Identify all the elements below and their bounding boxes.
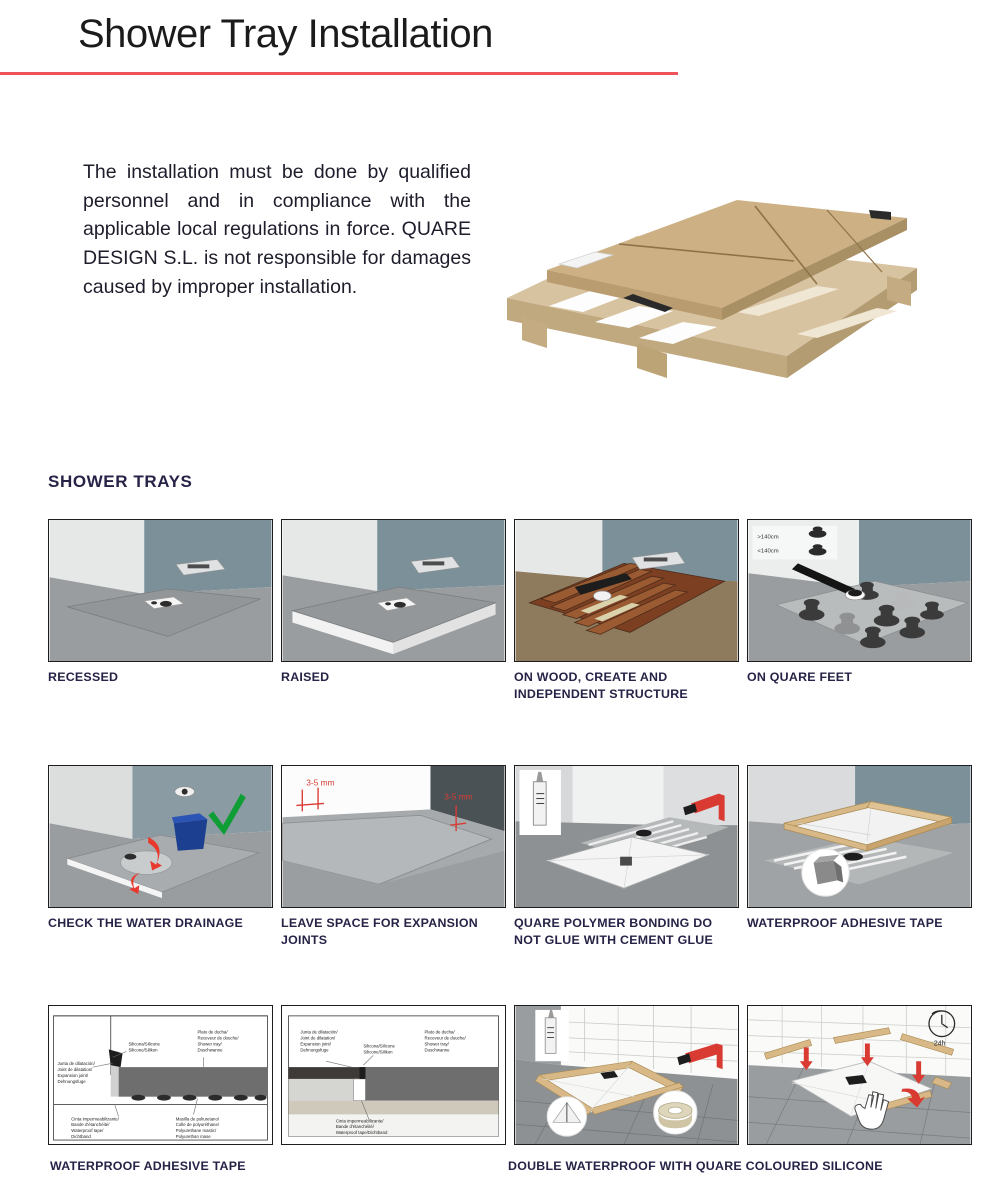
label-shower-tray-line4: Duschwanne bbox=[197, 1047, 223, 1052]
label-shower-tray-line2: Receveur de douche/ bbox=[197, 1036, 239, 1041]
card-water-drainage: CHECK THE WATER DRAINAGE bbox=[48, 765, 277, 948]
scene-adhesive-tape bbox=[748, 766, 971, 907]
label2-waterproof-tape-line3: Waterproof tape/Dichtband bbox=[336, 1130, 388, 1135]
label-waterproof-tape-line2: Bande d'étanchéité/ bbox=[71, 1122, 110, 1127]
caption-double-waterproof-silicone: DOUBLE WATERPROOF WITH QUARE COLOURED SI… bbox=[508, 1159, 883, 1173]
label-shower-tray-line1: Plato de ducha/ bbox=[197, 1030, 228, 1035]
caption-on-wood: ON WOOD, CREATE AND INDEPENDENT STRUCTUR… bbox=[514, 669, 734, 702]
caption-recessed: RECESSED bbox=[48, 669, 268, 686]
feet-legend-small-text: <140cm bbox=[757, 549, 778, 555]
intro-paragraph: The installation must be done by qualifi… bbox=[83, 158, 471, 301]
label-expansion-joint-line2: Joint de dilatation/ bbox=[57, 1067, 93, 1072]
label-polyurethane-line4: Polyurethan mase bbox=[176, 1134, 211, 1139]
caption-raised: RAISED bbox=[281, 669, 501, 686]
label-waterproof-tape-line1: Cinta impermeabilizante/ bbox=[71, 1116, 119, 1121]
card-expansion-joints: 3-5 mm 3-5 mm LEAVE SPACE FOR EXPANSION … bbox=[281, 765, 510, 948]
thumbnail-tiled-bathroom-silicone: 24h bbox=[747, 1005, 972, 1145]
label2-silicone-line1: Silicona/Silicone bbox=[363, 1043, 395, 1048]
label2-shower-tray-line4: Duschwanne bbox=[425, 1047, 451, 1052]
thumbnail-adhesive-tape bbox=[747, 765, 972, 908]
caption-adhesive-tape: WATERPROOF ADHESIVE TAPE bbox=[747, 915, 967, 932]
shower-tray-types-row: RECESSED bbox=[48, 519, 980, 702]
card-on-wood: ON WOOD, CREATE AND INDEPENDENT STRUCTUR… bbox=[514, 519, 743, 702]
installation-steps-row: CHECK THE WATER DRAINAGE bbox=[48, 765, 980, 948]
thumbnail-section-recessed: Junta de dilatación/ Joint de dilatation… bbox=[281, 1005, 506, 1145]
scene-raised-tray bbox=[282, 520, 505, 661]
label2-waterproof-tape-line2: Bande d'étanchéité/ bbox=[336, 1124, 375, 1129]
scene-recessed-tray bbox=[49, 520, 272, 661]
label-expansion-joint-line1: Junta de dilatación/ bbox=[57, 1061, 95, 1066]
label-expansion-joint-line4: Dehnungsfuge bbox=[57, 1079, 86, 1084]
card-section-raised: Junta de dilatación/ Joint de dilatation… bbox=[48, 1005, 277, 1145]
scene-polymer-bonding bbox=[515, 766, 738, 907]
label2-expansion-joint-line4: Dehnungsfuge bbox=[300, 1047, 329, 1052]
thumbnail-expansion-joints: 3-5 mm 3-5 mm bbox=[281, 765, 506, 908]
expansion-gap-left-label: 3-5 mm bbox=[306, 778, 334, 788]
section-heading: SHOWER TRAYS bbox=[48, 472, 192, 492]
thumbnail-tiled-bathroom-tape bbox=[514, 1005, 739, 1145]
thumbnail-water-drainage bbox=[48, 765, 273, 908]
hero-image-pallet bbox=[487, 148, 937, 393]
card-section-recessed: Junta de dilatación/ Joint de dilatation… bbox=[281, 1005, 510, 1145]
card-quare-feet: >140cm <140cm bbox=[747, 519, 976, 702]
page-title: Shower Tray Installation bbox=[78, 12, 493, 57]
label-waterproof-tape-line3: Waterproof tape/ bbox=[71, 1128, 104, 1133]
label2-waterproof-tape-line1: Cinta impermeabilizante/ bbox=[336, 1118, 384, 1123]
card-tiled-bathroom-tape bbox=[514, 1005, 743, 1145]
label-polyurethane-line3: Polyurethane mastic/ bbox=[176, 1128, 217, 1133]
label-silicone-line1: Silicona/Silicone bbox=[128, 1041, 160, 1046]
card-tiled-bathroom-silicone: 24h bbox=[747, 1005, 976, 1145]
scene-tiled-bathroom-tape bbox=[515, 1006, 738, 1144]
feet-legend-large-text: >140cm bbox=[757, 535, 778, 541]
card-adhesive-tape: WATERPROOF ADHESIVE TAPE bbox=[747, 765, 976, 948]
label-polyurethane-line2: Colle de polyuréthane/ bbox=[176, 1122, 220, 1127]
label-shower-tray-line3: Shower tray/ bbox=[197, 1041, 222, 1046]
caption-polymer-bonding: QUARE POLYMER BONDING DO NOT GLUE WITH C… bbox=[514, 915, 734, 948]
label2-shower-tray-line2: Receveur de douche/ bbox=[425, 1036, 467, 1041]
thumbnail-on-wood bbox=[514, 519, 739, 662]
card-recessed: RECESSED bbox=[48, 519, 277, 702]
waterproofing-details-row: Junta de dilatación/ Joint de dilatation… bbox=[48, 1005, 980, 1145]
label-silicone-line2: Silicone/Silikon bbox=[128, 1047, 158, 1052]
scene-section-recessed-detail: Junta de dilatación/ Joint de dilatation… bbox=[282, 1006, 505, 1144]
scene-quare-feet: >140cm <140cm bbox=[748, 520, 971, 661]
caption-expansion-joints: LEAVE SPACE FOR EXPANSION JOINTS bbox=[281, 915, 501, 948]
thumbnail-quare-feet: >140cm <140cm bbox=[747, 519, 972, 662]
scene-expansion-joints: 3-5 mm 3-5 mm bbox=[282, 766, 505, 907]
thumbnail-raised bbox=[281, 519, 506, 662]
label2-shower-tray-line1: Plato de ducha/ bbox=[425, 1030, 456, 1035]
caption-quare-feet: ON QUARE FEET bbox=[747, 669, 967, 686]
thumbnail-polymer-bonding bbox=[514, 765, 739, 908]
scene-wood-structure bbox=[515, 520, 738, 661]
thumbnail-recessed bbox=[48, 519, 273, 662]
label-waterproof-tape-line4: Dichtband bbox=[71, 1134, 91, 1139]
label2-expansion-joint-line1: Junta de dilatación/ bbox=[300, 1030, 338, 1035]
card-polymer-bonding: QUARE POLYMER BONDING DO NOT GLUE WITH C… bbox=[514, 765, 743, 948]
scene-water-drainage bbox=[49, 766, 272, 907]
label2-shower-tray-line3: Shower tray/ bbox=[425, 1041, 450, 1046]
expansion-gap-right-label: 3-5 mm bbox=[444, 792, 472, 802]
label2-expansion-joint-line3: Expansion joint/ bbox=[300, 1041, 331, 1046]
caption-waterproof-adhesive-tape-bottom: WATERPROOF ADHESIVE TAPE bbox=[50, 1159, 246, 1173]
scene-section-raised-detail: Junta de dilatación/ Joint de dilatation… bbox=[49, 1006, 272, 1144]
label2-silicone-line2: Silicone/Silikon bbox=[363, 1049, 393, 1054]
card-raised: RAISED bbox=[281, 519, 510, 702]
caption-water-drainage: CHECK THE WATER DRAINAGE bbox=[48, 915, 268, 932]
scene-tiled-bathroom-silicone: 24h bbox=[748, 1006, 971, 1144]
label2-expansion-joint-line2: Joint de dilatation/ bbox=[300, 1036, 336, 1041]
thumbnail-section-raised: Junta de dilatación/ Joint de dilatation… bbox=[48, 1005, 273, 1145]
label-polyurethane-line1: Masilla de poliuretano/ bbox=[176, 1116, 220, 1121]
label-expansion-joint-line3: Expansion joint/ bbox=[57, 1073, 88, 1078]
cure-time-label: 24h bbox=[934, 1040, 946, 1047]
title-divider bbox=[0, 72, 678, 75]
